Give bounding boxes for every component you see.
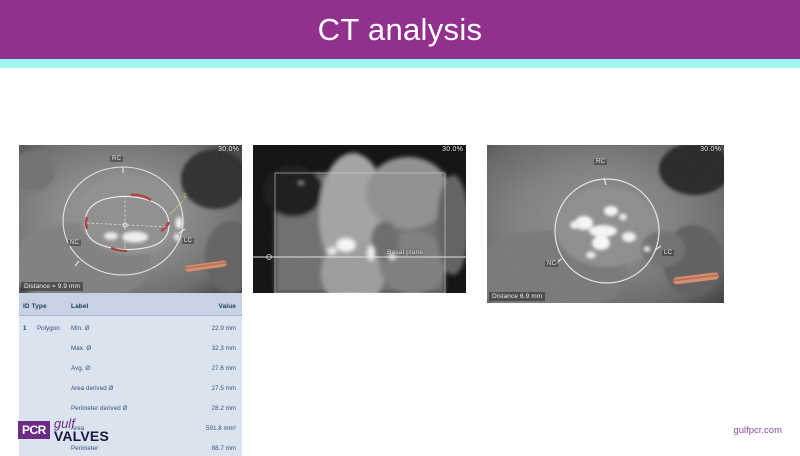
cell-label: Perimeter xyxy=(71,445,98,452)
gulf-valves-logo: PCR gulf VALVES xyxy=(18,418,109,443)
cell-label: Area derived Ø xyxy=(71,385,113,392)
cusp-label-nc: NC xyxy=(545,261,558,267)
cell-value: 27.5 mm xyxy=(212,385,236,392)
table-row[interactable]: Area derived Ø 27.5 mm xyxy=(19,376,242,396)
slide-header: CT analysis xyxy=(0,0,800,59)
cell-value: 88.7 mm xyxy=(212,445,236,452)
distance-measurement-label: Distance = 9.9 mm xyxy=(21,282,83,291)
table-header-row: ID Type Label Value xyxy=(19,293,242,316)
logo-word-valves: VALVES xyxy=(54,430,109,443)
cell-value: 27.6 mm xyxy=(212,365,236,372)
zoom-percent-label: 30.0% xyxy=(218,146,239,153)
cusp-label-rc: RC xyxy=(594,159,607,165)
cusp-label-nc: NC xyxy=(68,240,81,246)
polygon-id-label: 1 xyxy=(183,193,187,200)
table-row[interactable]: Max. Ø 32.3 mm xyxy=(19,336,242,356)
column-header-idtype: ID Type xyxy=(23,303,47,310)
column-header-value: Value xyxy=(219,303,236,310)
cell-value: 22.9 mm xyxy=(212,325,236,332)
page-title: CT analysis xyxy=(318,12,483,48)
cell-value: 28.2 mm xyxy=(212,405,236,412)
table-row[interactable]: 1 Polygon Min. Ø 22.9 mm xyxy=(19,316,242,336)
cell-id: 1 xyxy=(23,325,27,332)
basal-plane-label: Basal plane xyxy=(387,249,423,256)
logo-wordmark: gulf VALVES xyxy=(54,418,109,443)
pcr-logo-mark: PCR xyxy=(18,421,50,439)
cell-value: 32.3 mm xyxy=(212,345,236,352)
table-row[interactable]: Avg. Ø 27.6 mm xyxy=(19,356,242,376)
distance-measurement-label: Distance 6.9 mm xyxy=(489,292,545,301)
ct-panel-annulus-circle[interactable]: 30.0% RC NC LC Distance 6.9 mm xyxy=(487,145,724,303)
cell-value: 591.8 mm² xyxy=(206,425,236,432)
cusp-label-lc: LC xyxy=(182,238,194,244)
ct-panel-annulus-polygon[interactable]: 30.0% RC NC LC 1 Distance = 9.9 mm xyxy=(19,145,242,293)
cusp-label-lc: LC xyxy=(662,250,674,256)
ct-image-axial-polygon xyxy=(19,145,242,293)
zoom-percent-label: 30.0% xyxy=(700,146,721,153)
column-header-label: Label xyxy=(71,303,88,310)
ct-image-coronal xyxy=(253,145,466,293)
cell-label: Avg. Ø xyxy=(71,365,90,372)
cell-label: Max. Ø xyxy=(71,345,91,352)
zoom-percent-label: 30.0% xyxy=(442,146,463,153)
cell-label: Perimeter derived Ø xyxy=(71,405,127,412)
table-row[interactable]: Perimeter derived Ø 28.2 mm xyxy=(19,396,242,416)
site-url[interactable]: gulfpcr.com xyxy=(733,425,782,436)
cell-label: Min. Ø xyxy=(71,325,90,332)
ct-image-axial-circle xyxy=(487,145,724,303)
cusp-label-rc: RC xyxy=(110,156,123,162)
header-accent-bar xyxy=(0,59,800,68)
ct-image-panels: 30.0% RC NC LC 1 Distance = 9.9 mm xyxy=(0,145,800,305)
ct-panel-coronal-basal-plane[interactable]: 30.0% Basal plane xyxy=(253,145,466,293)
cell-type: Polygon xyxy=(37,325,60,332)
